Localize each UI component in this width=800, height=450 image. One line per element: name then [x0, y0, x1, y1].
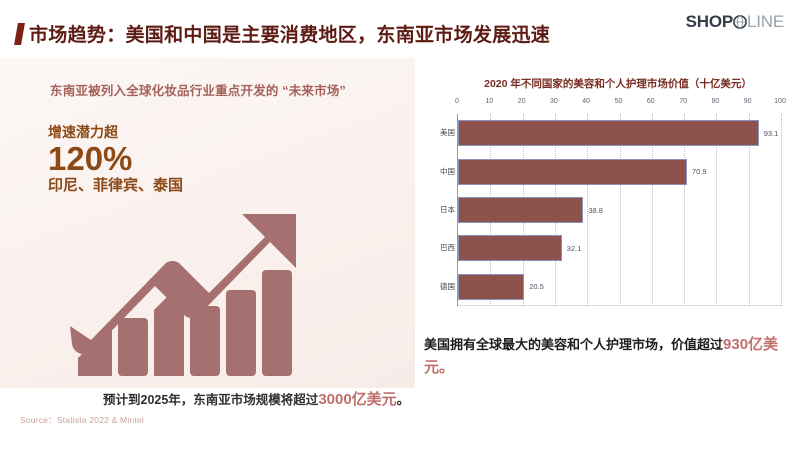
slide-header: 市场趋势：美国和中国是主要消费地区，东南亚市场发展迅速 SHOP LINE: [0, 0, 800, 58]
left-panel-subtitle: 东南亚被列入全球化妆品行业重点开发的 “未来市场”: [50, 80, 390, 99]
logo-secondary-text: LINE: [747, 12, 784, 32]
x-tick-label: 20: [518, 98, 526, 105]
right-footnote-prefix: 美国拥有全球最大的美容和个人护理市场，价值超过: [424, 337, 723, 352]
chart-bar-row: 德国20.5: [458, 274, 544, 300]
x-tick-label: 60: [647, 98, 655, 105]
x-tick-label: 40: [582, 98, 590, 105]
x-tick-label: 50: [615, 98, 623, 105]
chart-category-label: 日本: [429, 197, 455, 223]
chart-bar: [458, 235, 562, 261]
x-tick-label: 80: [711, 98, 719, 105]
chart-category-label: 德国: [429, 274, 455, 300]
chart-bar-row: 日本38.8: [458, 197, 603, 223]
left-footnote-highlight: 3000亿美元: [318, 391, 396, 408]
chart-bar: [458, 120, 759, 146]
x-tick-label: 100: [774, 98, 786, 105]
chart-bar-value-label: 93.1: [764, 129, 779, 138]
x-tick-label: 0: [455, 98, 459, 105]
chart-bar-row: 巴西32.1: [458, 235, 581, 261]
chart-bar: [458, 159, 687, 185]
chart-bar-value-label: 70.9: [692, 167, 707, 176]
x-tick-label: 10: [485, 98, 493, 105]
chart-category-label: 中国: [429, 159, 455, 185]
growth-stat-block: 增速潜力超 120% 印尼、菲律宾、泰国: [48, 124, 183, 196]
left-footnote-suffix: 。: [397, 393, 410, 407]
chart-category-label: 巴西: [429, 235, 455, 261]
upward-trend-arrow-bars-icon: [60, 198, 360, 378]
chart-bar-value-label: 32.1: [567, 244, 582, 253]
chart-title: 2020 年不同国家的美容和个人护理市场价值（十亿美元）: [468, 76, 768, 91]
chart-bar-row: 中国70.9: [458, 159, 707, 185]
beauty-market-value-bar-chart: 0102030405060708090100 美国93.1中国70.9日本38.…: [430, 96, 788, 308]
left-footnote-prefix: 预计到2025年，东南亚市场规模将超过: [103, 393, 318, 407]
growth-stat-countries: 印尼、菲律宾、泰国: [48, 177, 183, 196]
globe-icon: [733, 15, 747, 29]
x-tick-label: 30: [550, 98, 558, 105]
page-title: 市场趋势：美国和中国是主要消费地区，东南亚市场发展迅速: [29, 20, 550, 47]
chart-bar-value-label: 20.5: [529, 282, 544, 291]
right-footnote-suffix: 元。: [424, 359, 454, 376]
growth-stat-value: 120%: [48, 142, 183, 177]
right-footnote-highlight: 930亿美: [723, 336, 778, 353]
chart-plot-area: 美国93.1中国70.9日本38.8巴西32.1德国20.5: [457, 114, 781, 306]
shopline-logo: SHOP LINE: [686, 12, 784, 32]
chart-bar-value-label: 38.8: [588, 206, 603, 215]
left-highlight-panel: 东南亚被列入全球化妆品行业重点开发的 “未来市场” 增速潜力超 120% 印尼、…: [0, 58, 415, 388]
chart-bar: [458, 274, 524, 300]
right-footnote: 美国拥有全球最大的美容和个人护理市场，价值超过930亿美元。: [424, 333, 780, 380]
slide-canvas: 市场趋势：美国和中国是主要消费地区，东南亚市场发展迅速 SHOP LINE 东南…: [0, 0, 800, 450]
logo-primary-text: SHOP: [686, 12, 733, 32]
title-accent-bar: [14, 23, 25, 45]
source-note: Source：Statista 2022 & Mintel: [20, 414, 144, 426]
chart-category-label: 美国: [429, 120, 455, 146]
growth-stat-label: 增速潜力超: [48, 124, 183, 141]
gridline: [781, 114, 782, 306]
left-footnote: 预计到2025年，东南亚市场规模将超过3000亿美元。: [0, 388, 415, 409]
chart-bar: [458, 197, 583, 223]
x-tick-label: 70: [679, 98, 687, 105]
chart-x-axis-ticks: 0102030405060708090100: [457, 96, 780, 112]
x-tick-label: 90: [744, 98, 752, 105]
chart-bar-row: 美国93.1: [458, 120, 778, 146]
